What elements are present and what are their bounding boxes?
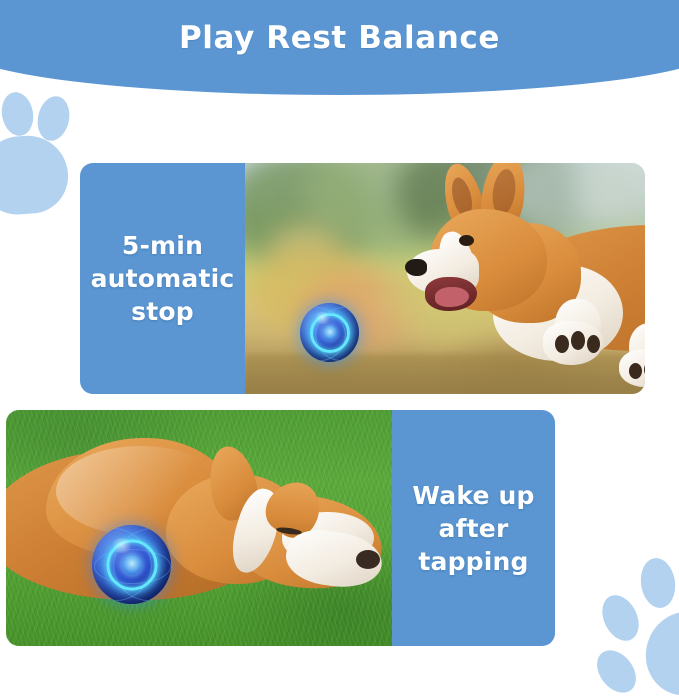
- dog-paw-toe: [587, 335, 600, 353]
- dog-nose: [356, 550, 380, 569]
- caption-line: tapping: [412, 545, 534, 578]
- dog-paw-toe: [571, 331, 585, 350]
- caption-panel-automatic-stop: 5-min automatic stop: [80, 163, 245, 394]
- dog-nose: [405, 259, 427, 276]
- paw-toe: [34, 93, 74, 143]
- feature-card-automatic-stop: 5-min automatic stop: [80, 163, 645, 394]
- caption-line: after: [412, 512, 534, 545]
- dog-paw-toe: [555, 335, 569, 353]
- caption-line: automatic: [91, 262, 235, 295]
- photo-corgi-running: [245, 163, 645, 394]
- power-icon: [122, 555, 142, 575]
- paw-toe: [0, 90, 37, 139]
- caption-text-automatic-stop: 5-min automatic stop: [81, 229, 245, 328]
- photo-corgi-sleeping: [6, 410, 392, 646]
- caption-panel-wake-up-tapping: Wake up after tapping: [392, 410, 555, 646]
- paw-pad: [0, 133, 71, 217]
- ball-specular-highlight: [314, 312, 331, 324]
- corgi-running-illustration: [405, 173, 645, 393]
- paw-pad: [642, 608, 679, 700]
- paw-toe: [595, 589, 646, 647]
- paw-print-bottom-right-icon: [598, 548, 679, 688]
- power-icon: [322, 325, 337, 340]
- paw-toe: [638, 556, 679, 610]
- dog-eye: [459, 235, 474, 246]
- header-banner: Play Rest Balance: [0, 0, 679, 95]
- paw-print-top-left-icon: [0, 92, 86, 222]
- caption-line: stop: [91, 295, 235, 328]
- smart-ball-glowing: [300, 303, 359, 362]
- caption-text-wake-up-tapping: Wake up after tapping: [402, 479, 544, 578]
- feature-card-wake-up-tapping: Wake up after tapping: [6, 410, 555, 646]
- page-title: Play Rest Balance: [0, 20, 679, 56]
- smart-ball-glowing: [92, 525, 171, 604]
- corgi-sleeping-illustration: [6, 428, 392, 638]
- paw-toe: [589, 643, 644, 700]
- caption-line: 5-min: [91, 229, 235, 262]
- dog-paw-toe: [629, 363, 642, 379]
- caption-line: Wake up: [412, 479, 534, 512]
- paw-toe: [0, 99, 6, 150]
